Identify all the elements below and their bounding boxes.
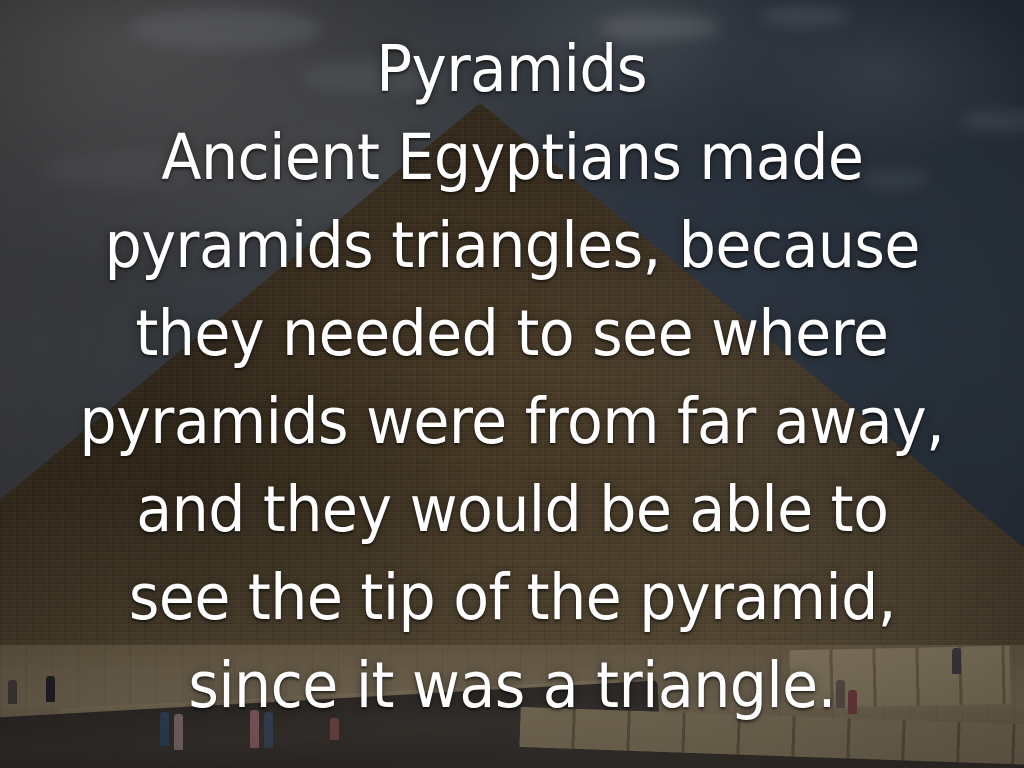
slide-body-line-5: and they would be able to: [136, 466, 888, 554]
presentation-slide: Pyramids Ancient Egyptians made pyramids…: [0, 0, 1024, 768]
slide-body-line-7: since it was a triangle.: [188, 642, 835, 730]
slide-text-block: Pyramids Ancient Egyptians made pyramids…: [0, 0, 1024, 768]
slide-body-line-4: pyramids were from far away,: [80, 378, 945, 466]
slide-title: Pyramids: [377, 26, 648, 114]
slide-body-line-6: see the tip of the pyramid,: [129, 554, 896, 642]
slide-body-line-2: pyramids triangles, because: [104, 202, 919, 290]
slide-body-line-1: Ancient Egyptians made: [161, 114, 863, 202]
slide-body-line-3: they needed to see where: [136, 290, 889, 378]
